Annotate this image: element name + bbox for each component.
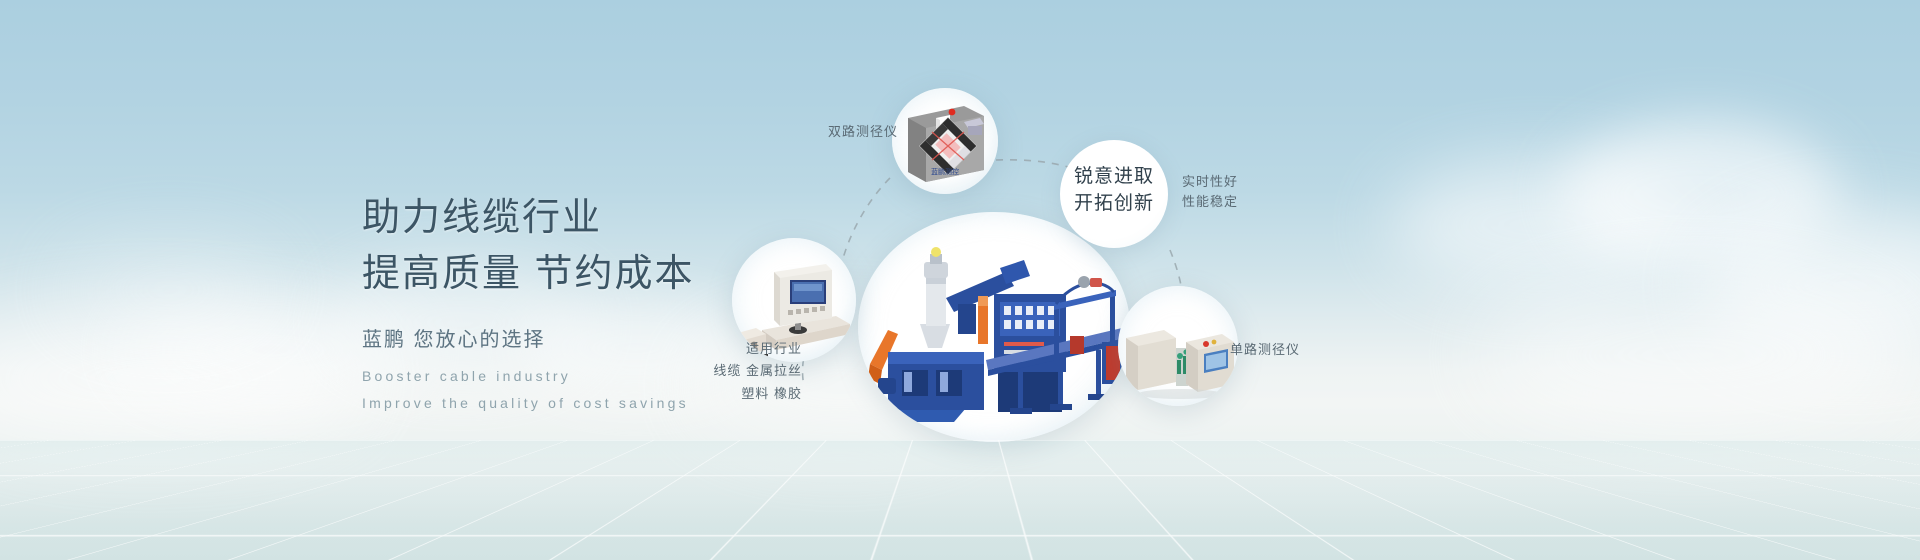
- industries-line-2: 塑料 橡胶: [690, 383, 802, 405]
- bubble-dual-gauge: 蓝鹏测控: [892, 88, 998, 194]
- product-composition: 蓝鹏测控: [700, 0, 1920, 560]
- dual-gauge-illustration: 蓝鹏测控: [892, 88, 998, 194]
- label-single-gauge: 单路测径仪: [1230, 340, 1300, 360]
- device-brand-text: 蓝鹏测控: [931, 167, 959, 176]
- slogan-block: 锐意进取 开拓创新: [1060, 164, 1168, 218]
- label-industries-block: 适用行业 线缆 金属拉丝 塑料 橡胶: [690, 338, 802, 405]
- industries-line-1: 线缆 金属拉丝: [690, 360, 802, 382]
- feature-line-1: 实时性好: [1182, 172, 1238, 192]
- extrusion-line-illustration: [858, 212, 1130, 442]
- label-feature-block: 实时性好 性能稳定: [1182, 172, 1238, 212]
- slogan-line-2: 开拓创新: [1060, 191, 1168, 218]
- industries-title: 适用行业: [690, 338, 802, 360]
- hero-banner: 助力线缆行业 提高质量 节约成本 蓝鹏 您放心的选择 Booster cable…: [0, 0, 1920, 560]
- single-gauge-illustration: [1118, 286, 1238, 406]
- label-dual-gauge: 双路测径仪: [738, 122, 898, 142]
- feature-line-2: 性能稳定: [1182, 192, 1238, 212]
- bubble-single-gauge: [1118, 286, 1238, 406]
- slogan-line-1: 锐意进取: [1060, 164, 1168, 191]
- bubble-extrusion-line: [858, 212, 1130, 442]
